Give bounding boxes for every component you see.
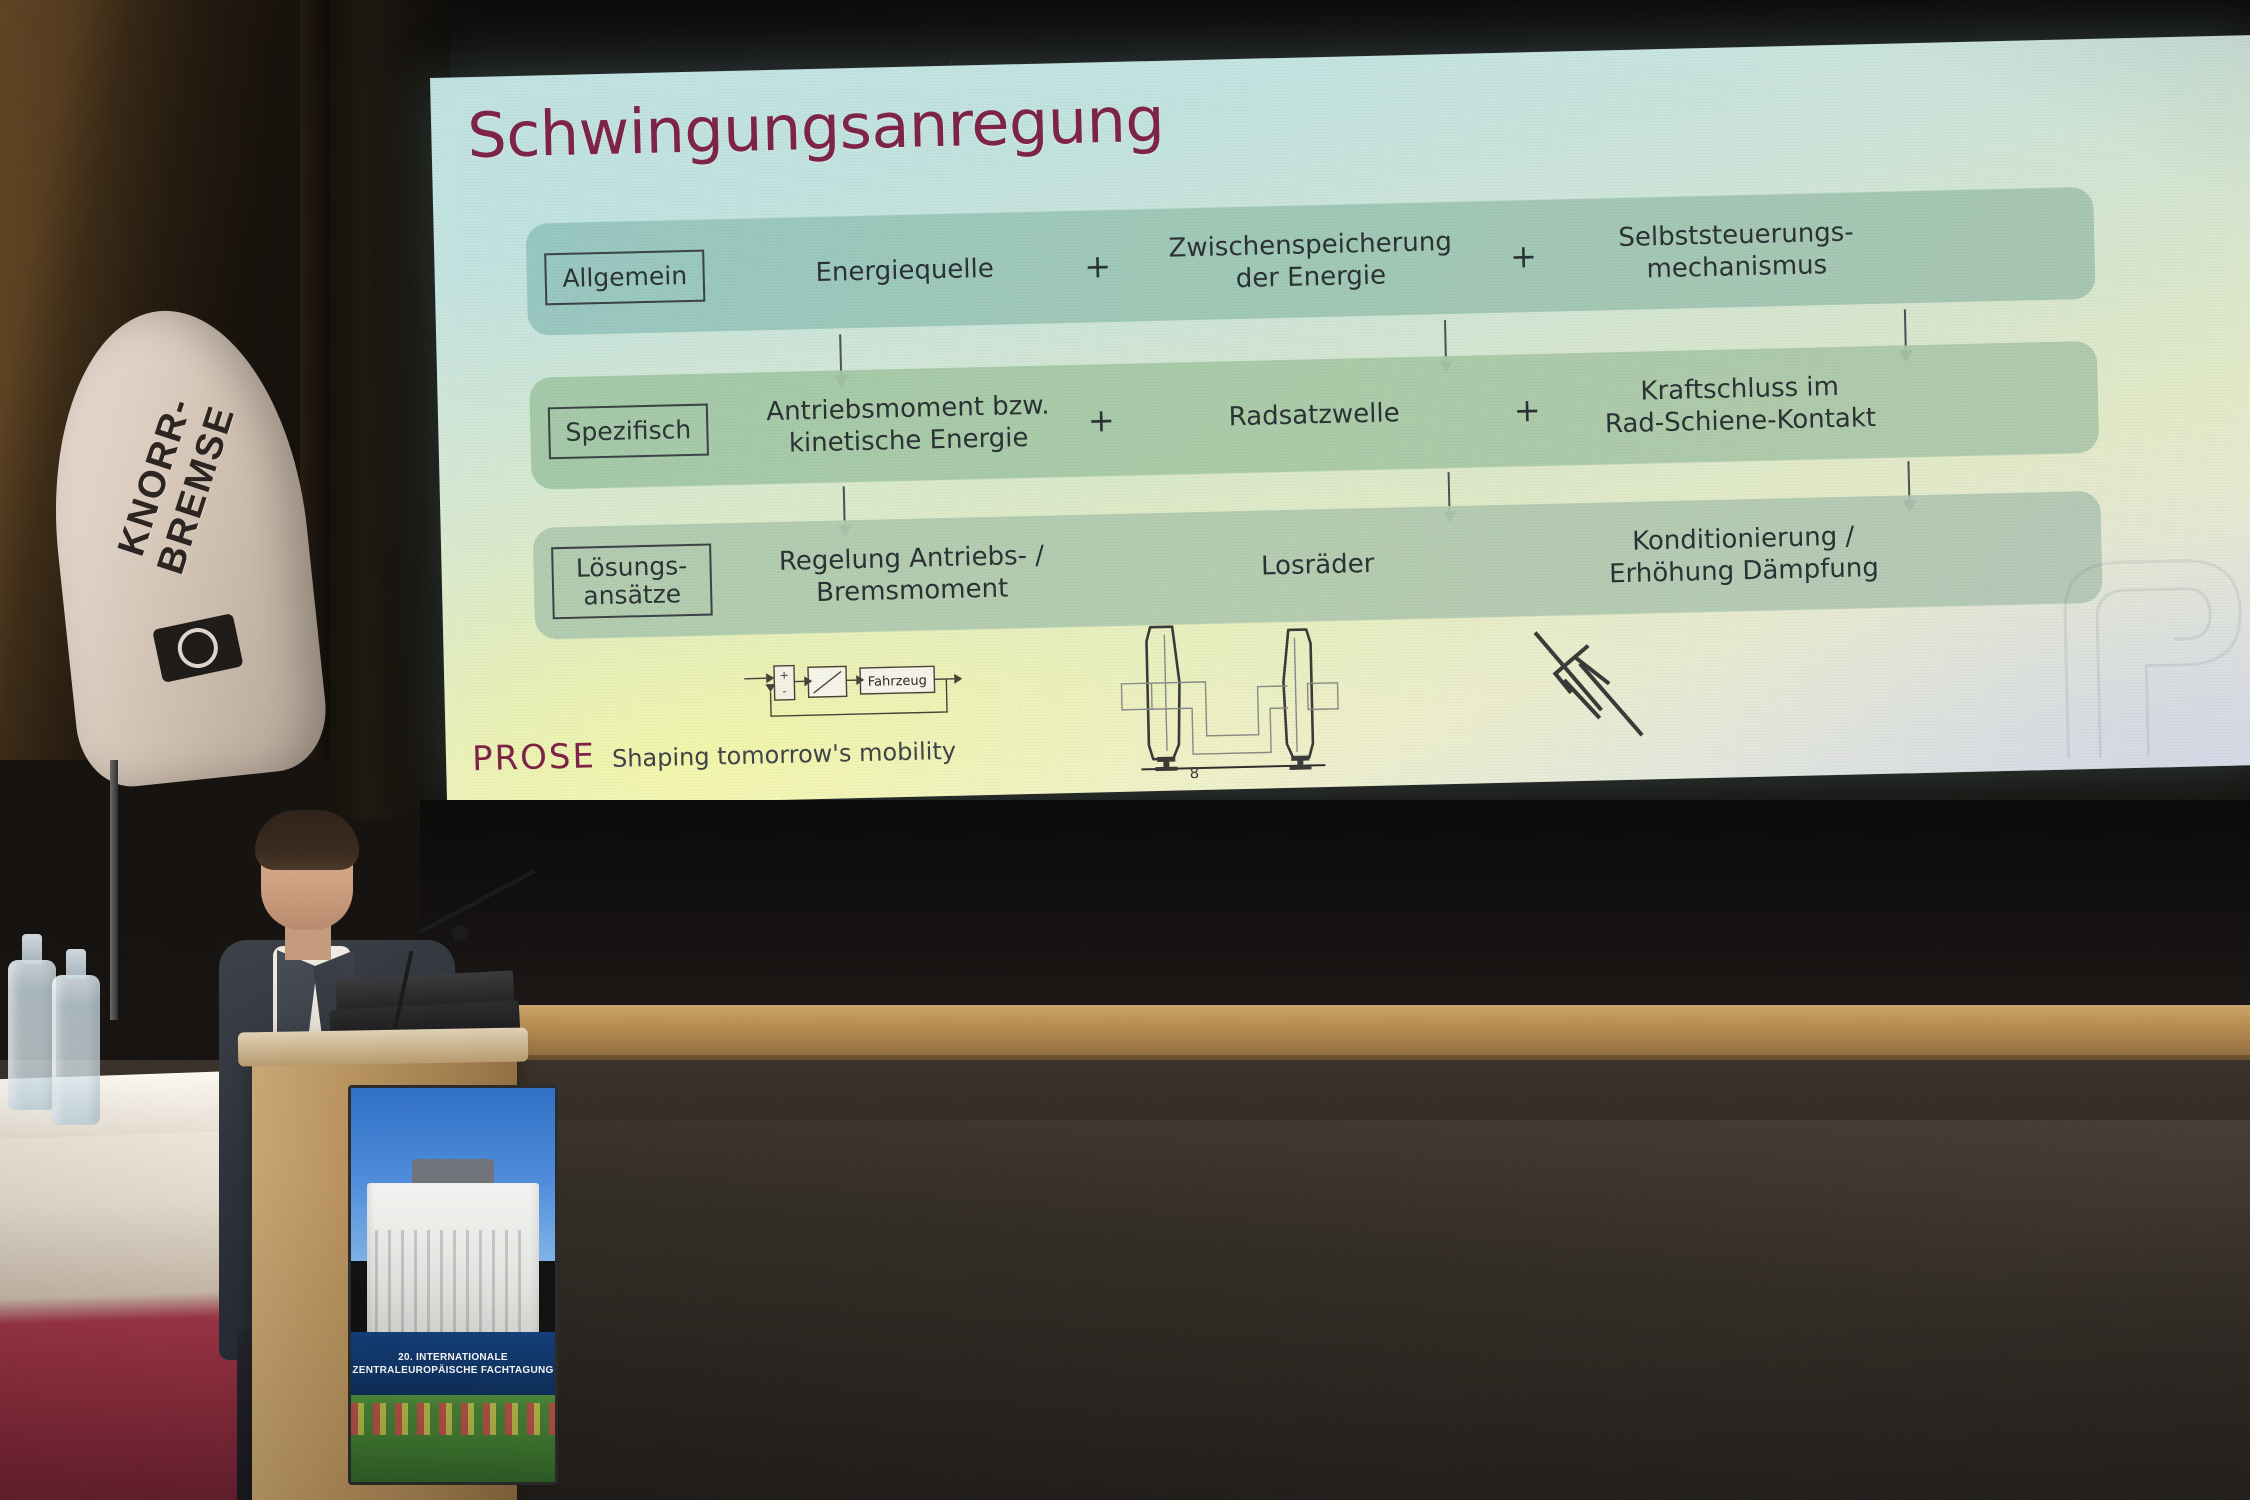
cell-r3c1: Regelung Antriebs- / Bremsmoment xyxy=(761,539,1062,611)
stage-back-floor xyxy=(420,800,2250,1010)
conference-photo: Schwingungsanregung Allgemein Energieque… xyxy=(0,0,2250,1500)
row-category-loesungsansaetze: Lösungs- ansätze xyxy=(551,544,713,620)
cell-r2c2: Radsatzwelle xyxy=(1144,395,1485,436)
water-bottle xyxy=(8,960,56,1110)
prose-watermark-logo xyxy=(2033,529,2250,765)
front-floor xyxy=(400,1120,2250,1500)
slide-row-spezifisch: Spezifisch Antriebsmoment bzw. kinetisch… xyxy=(529,341,2099,490)
row-category-allgemein: Allgemein xyxy=(544,250,705,306)
row-category-spezifisch: Spezifisch xyxy=(548,404,709,460)
cell-r1c3: Selbststeuerungs- mechanismus xyxy=(1566,215,1907,288)
operator-r1-2: + xyxy=(1480,236,1567,276)
cell-r3c2: Losräder xyxy=(1147,545,1488,586)
water-bottle xyxy=(52,975,100,1125)
sum-plus-label: + xyxy=(779,669,789,682)
slide-row-allgemein: Allgemein Energiequelle + Zwischenspeich… xyxy=(525,187,2095,336)
cell-r3c3: Konditionierung / Erhöhung Dämpfung xyxy=(1573,519,1914,592)
footer-tagline: Shaping tomorrow's mobility xyxy=(612,737,957,773)
microphone-head-icon xyxy=(452,925,468,941)
footer-brand-prose: PROSE xyxy=(472,736,597,779)
knorr-bremse-banner: KNORR-BREMSE xyxy=(34,298,332,792)
slide-title: Schwingungsanregung xyxy=(467,83,1165,172)
lectern-sign-line1: 20. INTERNATIONALE xyxy=(398,1352,508,1363)
lectern-digital-sign: 20. INTERNATIONALE ZENTRALEUROPÄISCHE FA… xyxy=(348,1085,558,1485)
lectern-sign-line2: ZENTRALEUROPÄISCHE FACHTAGUNG xyxy=(352,1365,553,1376)
cell-r1c2: Zwischenspeicherung der Energie xyxy=(1140,225,1481,298)
lectern-top xyxy=(238,1027,529,1066)
banner-pole xyxy=(110,760,118,1020)
cell-r1c1: Energiequelle xyxy=(754,251,1055,291)
plant-block-label: Fahrzeug xyxy=(868,673,927,689)
operator-r2-2: + xyxy=(1484,390,1571,430)
wheelset-cross-section-icon: 8 xyxy=(1098,614,1362,780)
closed-loop-control-block-diagram-icon: + - Fahrzeug xyxy=(742,657,1004,733)
slide-footer: PROSE Shaping tomorrow's mobility xyxy=(472,728,957,779)
operator-r2-1: + xyxy=(1058,400,1145,440)
stage-edge-wood xyxy=(420,1005,2250,1060)
wheelset-figure-label: 8 xyxy=(1189,764,1199,780)
cell-r2c3: Kraftschluss im Rad-Schiene-Kontakt xyxy=(1569,369,1910,442)
operator-r1-1: + xyxy=(1054,246,1141,286)
cell-r2c1: Antriebsmoment bzw. kinetische Energie xyxy=(758,389,1059,461)
damper-symbol-icon xyxy=(1518,617,1671,750)
operator-r3-2 xyxy=(1488,559,1574,561)
lectern-sign-caption: 20. INTERNATIONALE ZENTRALEUROPÄISCHE FA… xyxy=(351,1332,555,1395)
projection-screen: Schwingungsanregung Allgemein Energieque… xyxy=(430,35,2250,808)
sum-minus-label: - xyxy=(782,685,786,698)
operator-r3-1 xyxy=(1062,569,1148,571)
